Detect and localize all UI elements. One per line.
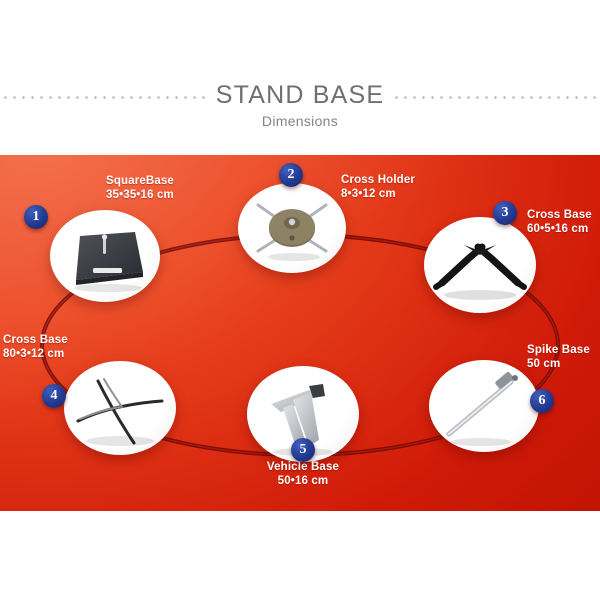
- dotted-rule-left-icon: [1, 96, 206, 99]
- item-6-name: Spike Base: [527, 344, 590, 356]
- item-3-bubble[interactable]: [424, 217, 536, 313]
- item-6-caption: Spike Base 50 cm: [527, 344, 590, 371]
- item-1-caption: SquareBase 35•35•16 cm: [106, 175, 174, 202]
- item-2-bubble[interactable]: [238, 183, 346, 273]
- item-3-caption: Cross Base 60•5•16 cm: [527, 209, 592, 236]
- item-4-name: Cross Base: [3, 334, 68, 346]
- item-4-caption: Cross Base 80•3•12 cm: [3, 334, 68, 361]
- title-row: STAND BASE: [0, 78, 600, 112]
- item-1-badge[interactable]: 1: [24, 205, 48, 229]
- item-2-name: Cross Holder: [341, 174, 415, 186]
- item-4-badge[interactable]: 4: [42, 384, 66, 408]
- page-title: STAND BASE: [206, 81, 395, 110]
- item-5-badge[interactable]: 5: [291, 438, 315, 462]
- item-1-bubble[interactable]: [50, 210, 160, 302]
- dotted-rule-right-icon: [394, 96, 599, 99]
- item-2-badge[interactable]: 2: [279, 163, 303, 187]
- cross-holder-disc-icon: [238, 183, 346, 273]
- item-2-caption: Cross Holder 8•3•12 cm: [341, 174, 415, 201]
- item-3-dimensions: 60•5•16 cm: [527, 223, 592, 237]
- product-panel: SquareBase 35•35•16 cm: [0, 155, 600, 511]
- item-5-dimensions: 50•16 cm: [248, 475, 358, 489]
- poster-page: STAND BASE Dimensions SquareBase 35•35•1…: [0, 0, 600, 600]
- square-plate-base-icon: [50, 210, 160, 302]
- spike-rod-icon: [429, 360, 539, 452]
- item-6-bubble[interactable]: [429, 360, 539, 452]
- item-4-bubble[interactable]: [64, 361, 176, 455]
- item-6-dimensions: 50 cm: [527, 358, 590, 372]
- item-4-dimensions: 80•3•12 cm: [3, 348, 68, 362]
- item-5-caption: Vehicle Base 50•16 cm: [248, 461, 358, 488]
- item-1-name: SquareBase: [106, 175, 174, 187]
- item-3-name: Cross Base: [527, 209, 592, 221]
- item-5-name: Vehicle Base: [267, 461, 339, 473]
- poster-header: STAND BASE Dimensions: [0, 78, 600, 148]
- item-1-dimensions: 35•35•16 cm: [106, 189, 174, 203]
- page-subtitle: Dimensions: [0, 113, 600, 129]
- item-6-badge[interactable]: 6: [530, 389, 554, 413]
- black-cross-legs-icon: [424, 217, 536, 313]
- item-2-dimensions: 8•3•12 cm: [341, 188, 415, 202]
- thin-cross-legs-icon: [64, 361, 176, 455]
- item-3-badge[interactable]: 3: [493, 201, 517, 225]
